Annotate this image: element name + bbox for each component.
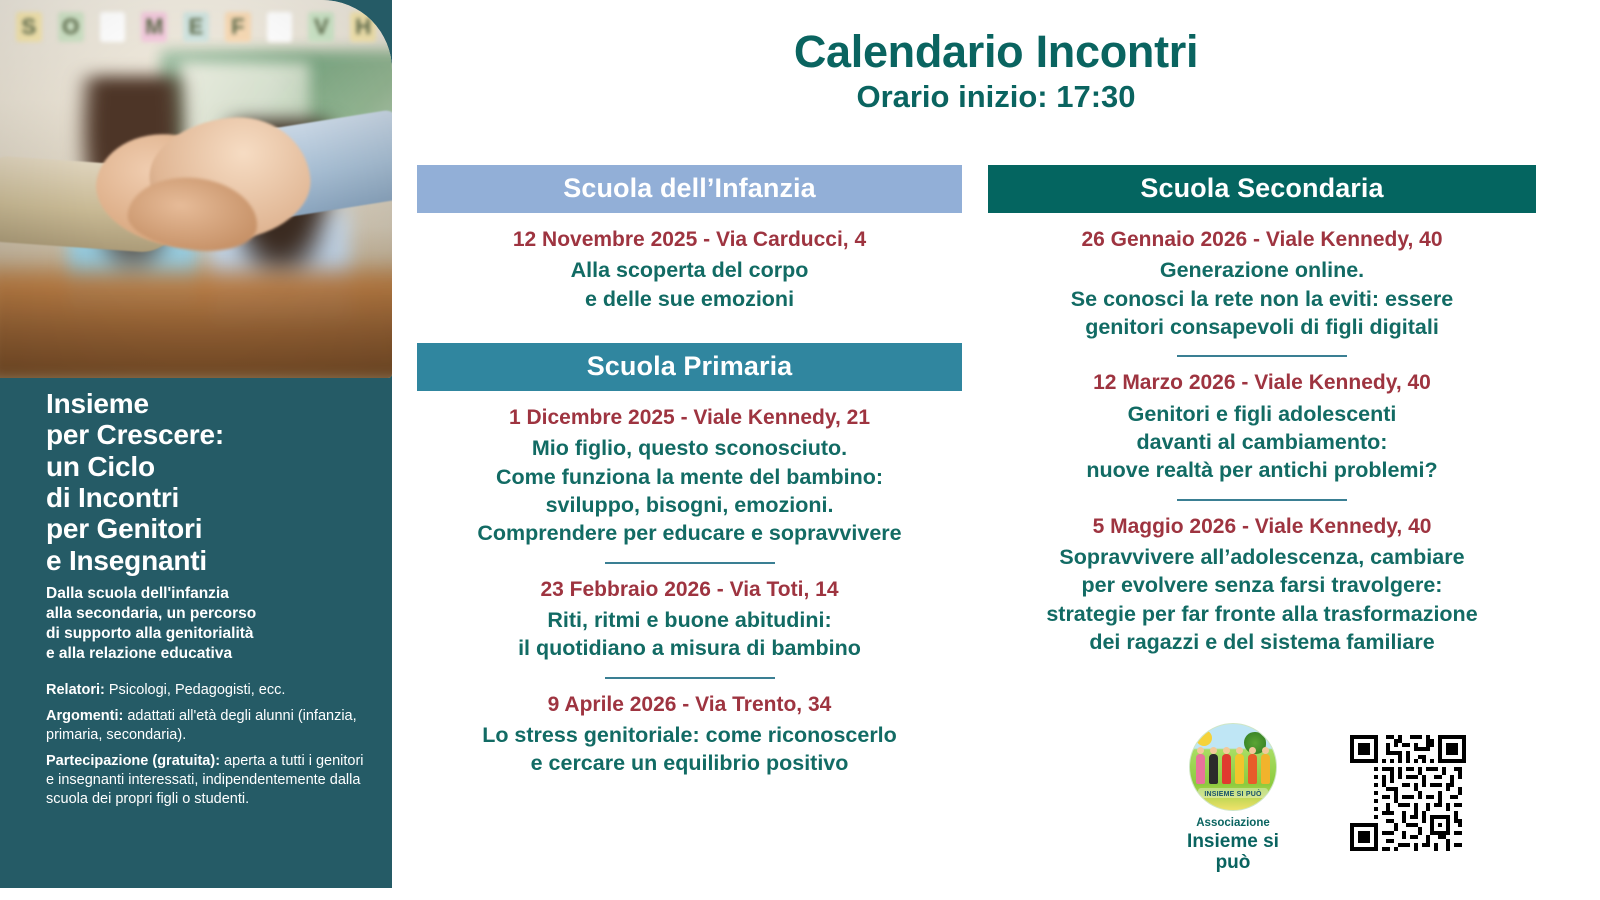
event-title-line: genitori consapevoli di figli digitali	[988, 313, 1536, 341]
event-item: 26 Gennaio 2026 - Viale Kennedy, 40Gener…	[988, 227, 1536, 341]
sidebar-title-line: Insieme	[46, 388, 366, 419]
column-right: Scuola Secondaria26 Gennaio 2026 - Viale…	[988, 165, 1536, 657]
child-figure	[1222, 754, 1231, 784]
event-title-line: e delle sue emozioni	[417, 285, 962, 313]
association-name: Insieme si può	[1168, 832, 1298, 874]
sidebar-panel: SO M EF V H Insiemeper Crescere:un Ciclo…	[0, 0, 392, 888]
event-title-line: Se conosci la rete non la eviti: essere	[988, 285, 1536, 313]
event-title: Generazione online.Se conosci la rete no…	[988, 256, 1536, 341]
event-item: 23 Febbraio 2026 - Via Toti, 14Riti, rit…	[417, 577, 962, 663]
association-label: Associazione	[1168, 817, 1298, 830]
sidebar-title-line: un Ciclo	[46, 451, 366, 482]
event-divider	[605, 677, 775, 679]
event-date-location: 26 Gennaio 2026 - Viale Kennedy, 40	[988, 227, 1536, 253]
sidebar-text-block: Insiemeper Crescere:un Ciclodi Incontrip…	[46, 388, 366, 816]
association-logo: INSIEME SI PUÒ Associazione Insieme si p…	[1168, 723, 1298, 873]
sidebar-info-list: Relatori: Psicologi, Pedagogisti, ecc.Ar…	[46, 681, 366, 808]
event-title-line: nuove realtà per antichi problemi?	[988, 456, 1536, 484]
section-spacer	[417, 313, 962, 343]
event-divider	[1177, 499, 1347, 501]
section-header-secondaria: Scuola Secondaria	[988, 165, 1536, 213]
event-date-location: 5 Maggio 2026 - Viale Kennedy, 40	[988, 514, 1536, 540]
sidebar-title-line: di Incontri	[46, 482, 366, 513]
event-title-line: Generazione online.	[988, 256, 1536, 284]
child-figure	[1235, 754, 1244, 784]
event-title: Alla scoperta del corpoe delle sue emozi…	[417, 256, 962, 313]
sidebar-title-line: per Crescere:	[46, 419, 366, 450]
sidebar-info-label: Relatori:	[46, 682, 105, 698]
sidebar-info-text: Psicologi, Pedagogisti, ecc.	[105, 682, 286, 698]
sidebar-subtitle-line: e alla relazione educativa	[46, 644, 366, 664]
logo-illustration-icon: INSIEME SI PUÒ	[1189, 723, 1277, 811]
event-title: Sopravvivere all’adolescenza, cambiarepe…	[988, 543, 1536, 657]
child-figure	[1248, 754, 1257, 784]
event-title-line: Lo stress genitoriale: come riconoscerlo	[417, 721, 962, 749]
event-title-line: davanti al cambiamento:	[988, 428, 1536, 456]
sidebar-subtitle-line: di supporto alla genitorialità	[46, 624, 366, 644]
section-header-primaria: Scuola Primaria	[417, 343, 962, 391]
child-figure	[1209, 754, 1218, 784]
event-title-line: Riti, ritmi e buone abitudini:	[417, 606, 962, 634]
sidebar-info-item: Relatori: Psicologi, Pedagogisti, ecc.	[46, 681, 366, 700]
event-divider	[1177, 355, 1347, 357]
event-item: 5 Maggio 2026 - Viale Kennedy, 40Sopravv…	[988, 514, 1536, 657]
child-figure	[1196, 754, 1205, 784]
event-title-line: Mio figlio, questo sconosciuto.	[417, 434, 962, 462]
sidebar-title-line: per Genitori	[46, 513, 366, 544]
event-date-location: 12 Marzo 2026 - Viale Kennedy, 40	[988, 370, 1536, 396]
event-title-line: per evolvere senza farsi travolgere:	[988, 571, 1536, 599]
child-figure	[1261, 754, 1270, 784]
sidebar-info-label: Argomenti:	[46, 708, 123, 724]
page-title: Calendario Incontri	[392, 28, 1600, 76]
event-title-line: Genitori e figli adolescenti	[988, 400, 1536, 428]
handshake-classroom-photo: SO M EF V H	[0, 0, 392, 378]
sidebar-title: Insiemeper Crescere:un Ciclodi Incontrip…	[46, 388, 366, 576]
event-list-infanzia: 12 Novembre 2025 - Via Carducci, 4Alla s…	[417, 227, 962, 313]
column-left: Scuola dell’Infanzia12 Novembre 2025 - V…	[417, 165, 962, 778]
event-date-location: 23 Febbraio 2026 - Via Toti, 14	[417, 577, 962, 603]
event-item: 1 Dicembre 2025 - Viale Kennedy, 21Mio f…	[417, 405, 962, 548]
page-subtitle: Orario inizio: 17:30	[392, 80, 1600, 114]
event-title-line: e cercare un equilibrio positivo	[417, 749, 962, 777]
footer-row: INSIEME SI PUÒ Associazione Insieme si p…	[1150, 723, 1540, 863]
event-item: 9 Aprile 2026 - Via Trento, 34Lo stress …	[417, 692, 962, 778]
event-date-location: 1 Dicembre 2025 - Viale Kennedy, 21	[417, 405, 962, 431]
sidebar-info-label: Partecipazione (gratuita):	[46, 753, 220, 769]
sidebar-title-line: e Insegnanti	[46, 545, 366, 576]
sidebar-subtitle-line: Dalla scuola dell'infanzia	[46, 584, 366, 604]
event-item: 12 Novembre 2025 - Via Carducci, 4Alla s…	[417, 227, 962, 313]
event-date-location: 9 Aprile 2026 - Via Trento, 34	[417, 692, 962, 718]
event-title-line: Comprendere per educare e sopravvivere	[417, 519, 962, 547]
event-title: Riti, ritmi e buone abitudini:il quotidi…	[417, 606, 962, 663]
photo-vignette	[0, 0, 392, 378]
sidebar-info-item: Argomenti: adattati all'età degli alunni…	[46, 707, 366, 745]
sidebar-subtitle: Dalla scuola dell'infanziaalla secondari…	[46, 584, 366, 663]
event-title-line: dei ragazzi e del sistema familiare	[988, 628, 1536, 656]
event-title-line: Come funziona la mente del bambino:	[417, 463, 962, 491]
sidebar-subtitle-line: alla secondaria, un percorso	[46, 604, 366, 624]
children-figures-icon	[1196, 754, 1270, 784]
event-divider	[605, 562, 775, 564]
event-title-line: Alla scoperta del corpo	[417, 256, 962, 284]
poster-canvas: SO M EF V H Insiemeper Crescere:un Ciclo…	[0, 0, 1600, 900]
event-title: Genitori e figli adolescentidavanti al c…	[988, 400, 1536, 485]
event-title: Mio figlio, questo sconosciuto.Come funz…	[417, 434, 962, 548]
event-title-line: strategie per far fronte alla trasformaz…	[988, 600, 1536, 628]
event-title-line: sviluppo, bisogni, emozioni.	[417, 491, 962, 519]
poster-header: Calendario Incontri Orario inizio: 17:30	[392, 28, 1600, 114]
event-title: Lo stress genitoriale: come riconoscerlo…	[417, 721, 962, 778]
section-header-infanzia: Scuola dell’Infanzia	[417, 165, 962, 213]
event-date-location: 12 Novembre 2025 - Via Carducci, 4	[417, 227, 962, 253]
sidebar-info-item: Partecipazione (gratuita): aperta a tutt…	[46, 752, 366, 809]
sun-icon	[1196, 730, 1212, 746]
event-title-line: Sopravvivere all’adolescenza, cambiare	[988, 543, 1536, 571]
event-title-line: il quotidiano a misura di bambino	[417, 634, 962, 662]
event-item: 12 Marzo 2026 - Viale Kennedy, 40Genitor…	[988, 370, 1536, 484]
logo-inner-text: INSIEME SI PUÒ	[1190, 791, 1276, 798]
qr-code[interactable]	[1350, 735, 1466, 851]
event-list-primaria: 1 Dicembre 2025 - Viale Kennedy, 21Mio f…	[417, 405, 962, 778]
event-list-secondaria: 26 Gennaio 2026 - Viale Kennedy, 40Gener…	[988, 227, 1536, 657]
